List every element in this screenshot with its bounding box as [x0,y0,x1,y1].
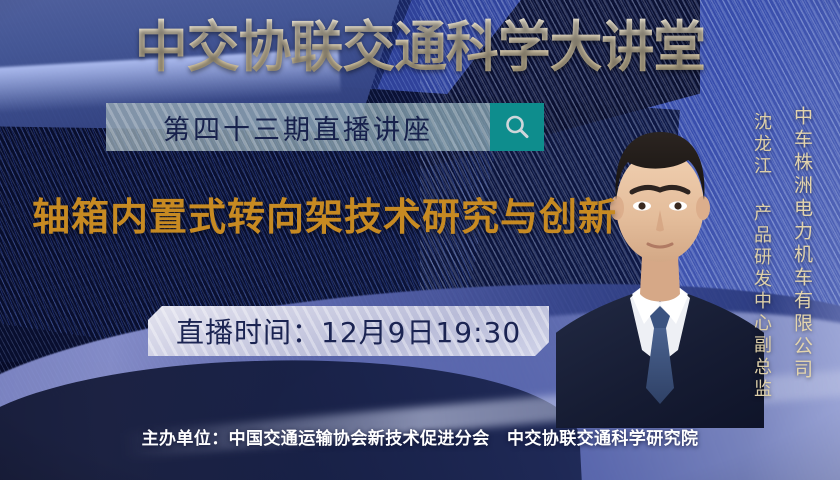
search-button[interactable] [490,103,544,151]
episode-banner-body: 第四十三期直播讲座 [106,103,490,151]
episode-label: 第四十三期直播讲座 [163,108,433,147]
live-time-label: 直播时间：12月9日19:30 [176,311,521,351]
poster-banner: 中交协联交通科学大讲堂 第四十三期直播讲座 轴箱内置式转向架技术研究与创新 直播… [0,0,840,480]
search-icon [502,112,532,142]
speaker-name-role: 沈龙江 产品研发中心副总监 [748,112,774,401]
organizers-footer: 主办单位：中国交通运输协会新技术促进分会 中交协联交通科学研究院 [0,424,840,449]
speaker-portrait [556,88,764,428]
page-title: 中交协联交通科学大讲堂 [17,16,823,78]
lecture-title: 轴箱内置式转向架技术研究与创新 [32,194,617,240]
episode-banner: 第四十三期直播讲座 [106,103,544,151]
speaker-company: 中车株洲电力机车有限公司 [789,106,816,382]
live-time-badge: 直播时间：12月9日19:30 [148,306,549,356]
